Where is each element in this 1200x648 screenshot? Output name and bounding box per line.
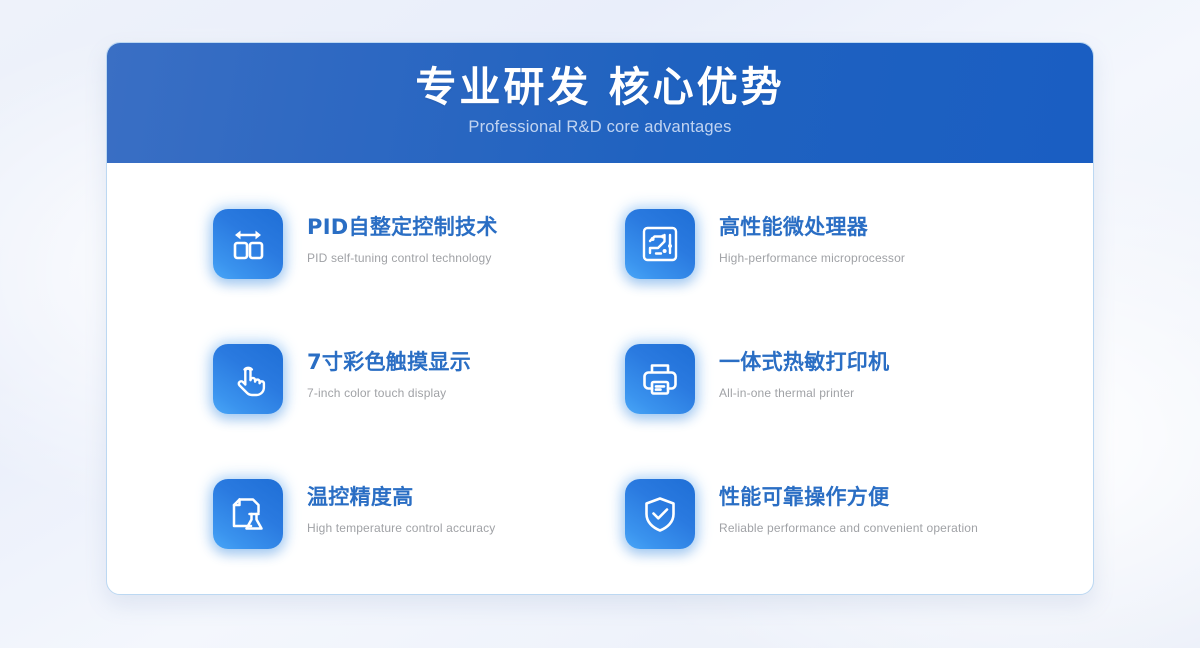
card-header: 专业研发 核心优势 Professional R&D core advantag… [107,43,1093,163]
shield-check-icon [625,479,695,549]
feature-grid: PID自整定控制技术 PID self-tuning control techn… [107,163,1093,594]
feature-item-pid[interactable]: PID自整定控制技术 PID self-tuning control techn… [107,209,567,344]
feature-title: 性能可靠操作方便 [719,483,978,511]
feature-item-touch-display[interactable]: 7寸彩色触摸显示 7-inch color touch display [107,344,567,479]
feature-title: 7寸彩色触摸显示 [307,348,471,376]
page-title: 专业研发 核心优势 [107,61,1093,113]
resize-arrow-blocks-icon [213,209,283,279]
feature-text: 7寸彩色触摸显示 7-inch color touch display [307,344,471,401]
feature-title: PID自整定控制技术 [307,213,498,241]
feature-subtitle: High-performance microprocessor [719,250,905,266]
feature-item-reliable-performance[interactable]: 性能可靠操作方便 Reliable performance and conven… [567,479,1027,595]
core-advantages-card: 专业研发 核心优势 Professional R&D core advantag… [106,42,1094,595]
feature-text: 温控精度高 High temperature control accuracy [307,479,495,536]
feature-row: 7寸彩色触摸显示 7-inch color touch display [107,344,1093,479]
feature-text: PID自整定控制技术 PID self-tuning control techn… [307,209,498,266]
microchip-circuit-icon [625,209,695,279]
feature-row: PID自整定控制技术 PID self-tuning control techn… [107,209,1093,344]
feature-title: 一体式热敏打印机 [719,348,889,376]
feature-item-microprocessor[interactable]: 高性能微处理器 High-performance microprocessor [567,209,1027,344]
feature-subtitle: 7-inch color touch display [307,385,471,401]
feature-subtitle: Reliable performance and convenient oper… [719,520,978,536]
feature-text: 性能可靠操作方便 Reliable performance and conven… [719,479,978,536]
feature-subtitle: PID self-tuning control technology [307,250,498,266]
feature-subtitle: All-in-one thermal printer [719,385,889,401]
feature-title: 温控精度高 [307,483,495,511]
feature-title: 高性能微处理器 [719,213,905,241]
touch-hand-icon [213,344,283,414]
document-flask-icon [213,479,283,549]
feature-row: 温控精度高 High temperature control accuracy … [107,479,1093,595]
feature-item-temperature-accuracy[interactable]: 温控精度高 High temperature control accuracy [107,479,567,595]
feature-text: 一体式热敏打印机 All-in-one thermal printer [719,344,889,401]
feature-item-thermal-printer[interactable]: 一体式热敏打印机 All-in-one thermal printer [567,344,1027,479]
feature-subtitle: High temperature control accuracy [307,520,495,536]
printer-icon [625,344,695,414]
feature-text: 高性能微处理器 High-performance microprocessor [719,209,905,266]
page-subtitle: Professional R&D core advantages [107,116,1093,138]
